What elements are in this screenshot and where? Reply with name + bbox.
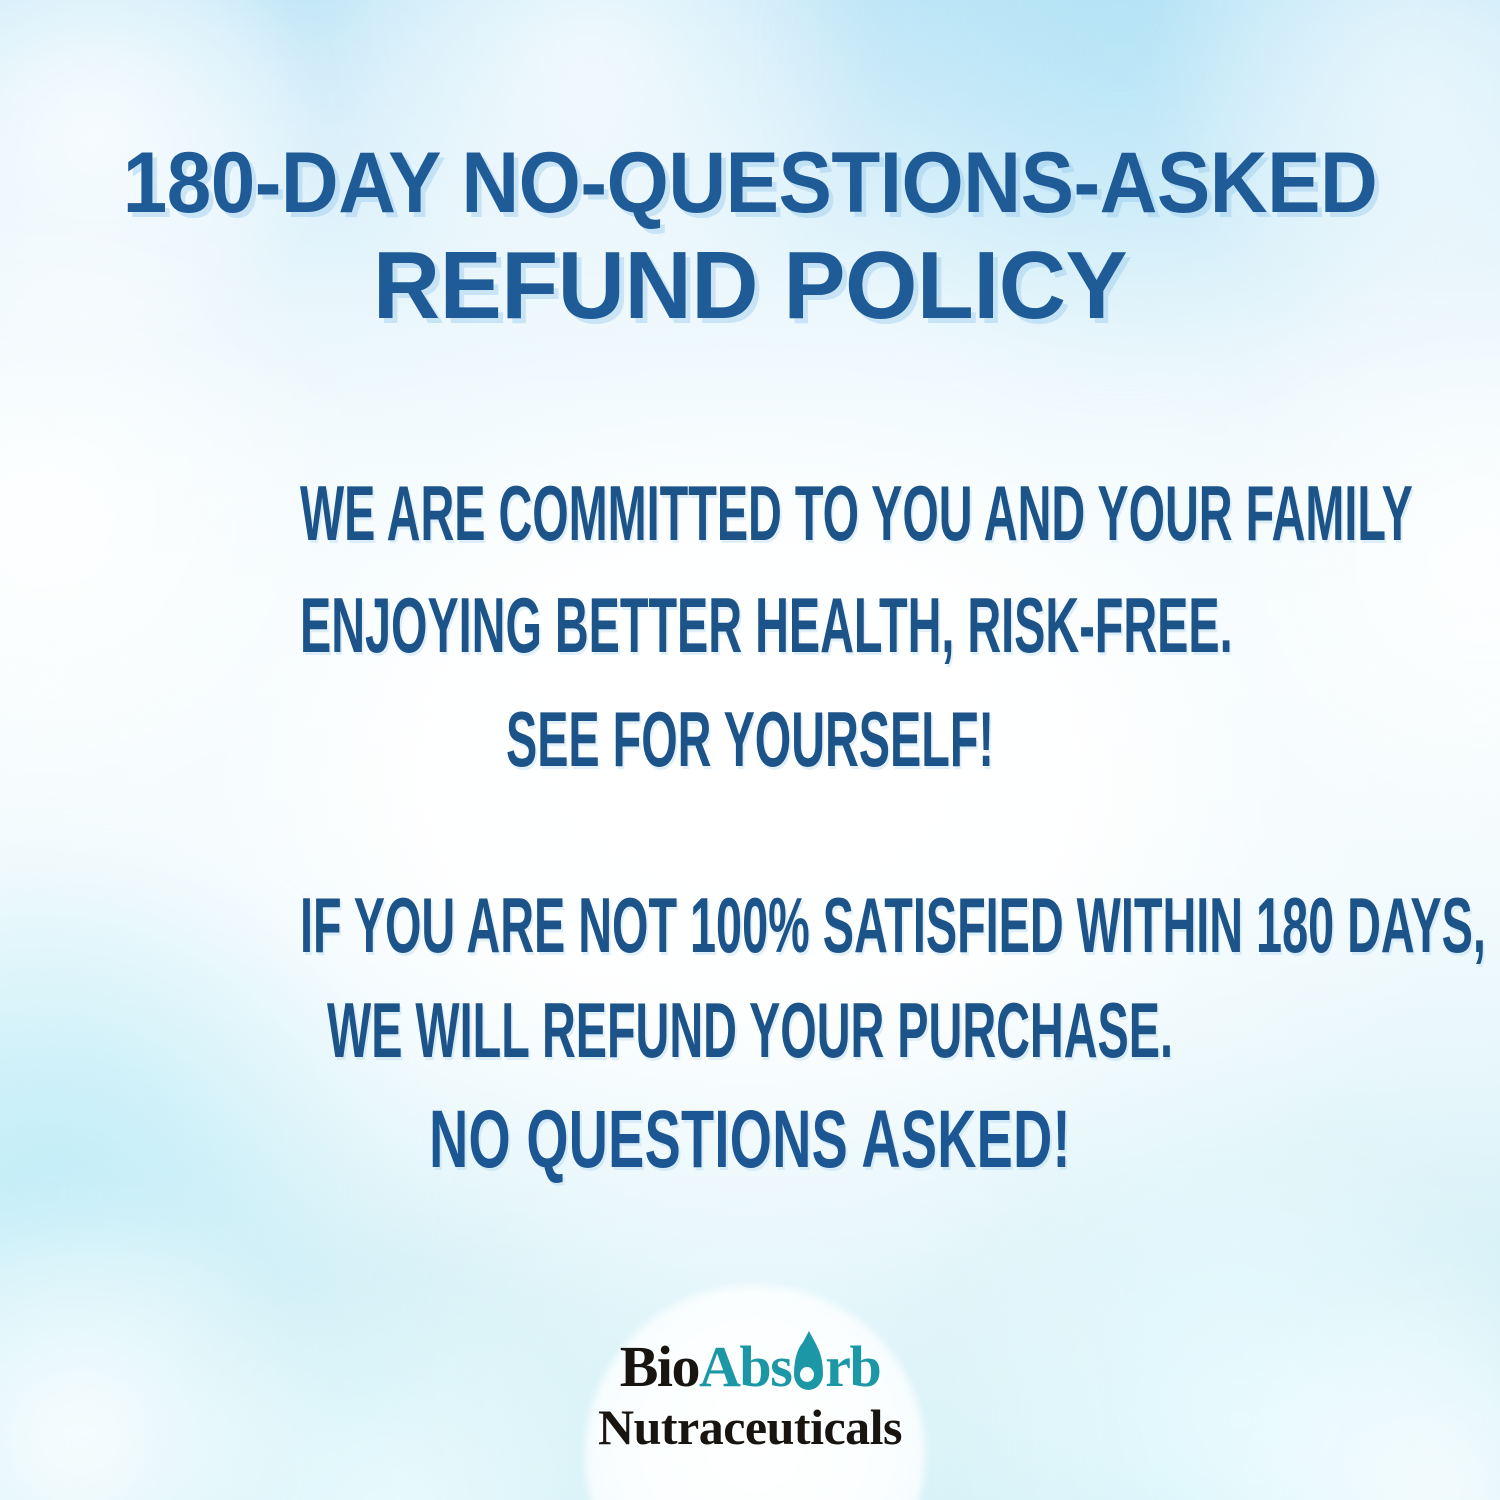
brand-tagline: Nutraceuticals — [0, 1402, 1500, 1452]
commitment-text-line-2: ENJOYING BETTER HEALTH, RISK-FREE. — [300, 586, 1200, 664]
poster-content: 180-DAY NO-QUESTIONS-ASKED REFUND POLICY… — [0, 0, 1500, 1500]
guarantee-text-line-3: NO QUESTIONS ASKED! — [255, 1099, 1245, 1181]
water-droplet-icon — [790, 1340, 826, 1392]
brand-name: BioAbsrb — [0, 1338, 1500, 1396]
page-title-line-2: REFUND POLICY — [23, 238, 1478, 334]
brand-logo: BioAbsrb Nutraceuticals — [0, 1338, 1500, 1452]
commitment-text-line-3: SEE FOR YOURSELF! — [300, 700, 1200, 778]
droplet-shape — [794, 1340, 823, 1390]
guarantee-text-line-1: IF YOU ARE NOT 100% SATISFIED WITHIN 180… — [300, 886, 1200, 964]
brand-name-rb: rb — [825, 1334, 880, 1399]
guarantee-text-line-2: WE WILL REFUND YOUR PURCHASE. — [300, 991, 1200, 1069]
commitment-text-line-1: WE ARE COMMITTED TO YOU AND YOUR FAMILY — [300, 474, 1200, 552]
refund-policy-poster: 180-DAY NO-QUESTIONS-ASKED REFUND POLICY… — [0, 0, 1500, 1500]
brand-name-abs: Abs — [699, 1334, 791, 1399]
brand-name-bio: Bio — [620, 1334, 699, 1399]
page-title-line-1: 180-DAY NO-QUESTIONS-ASKED — [53, 140, 1448, 226]
